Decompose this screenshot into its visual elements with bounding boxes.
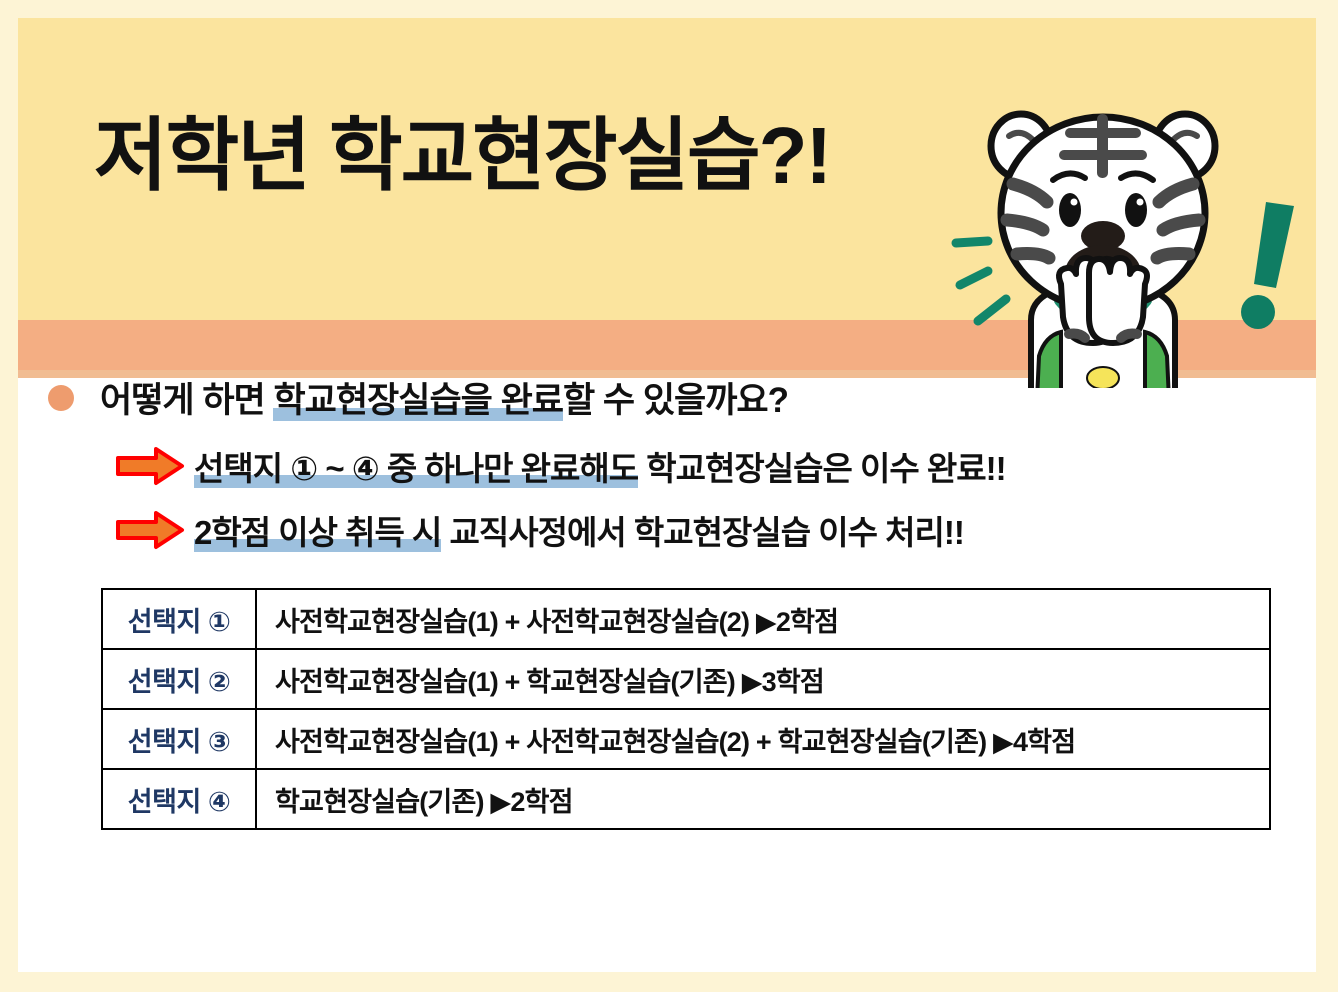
option-label: 선택지 ④ xyxy=(102,769,256,829)
note-text-1: 선택지 ① ~ ④ 중 하나만 완료해도 학교현장실습은 이수 완료!! xyxy=(194,442,1006,490)
note-row-1: 선택지 ① ~ ④ 중 하나만 완료해도 학교현장실습은 이수 완료!! xyxy=(114,442,1006,490)
slide-body: 어떻게 하면 학교현장실습을 완료할 수 있을까요? 선택지 ① ~ ④ 중 하… xyxy=(18,320,1316,900)
question-text-after: 할 수 있을까요? xyxy=(563,381,788,420)
option-description: 사전학교현장실습(1) + 학교현장실습(기존) ▶3학점 xyxy=(256,649,1270,709)
page-title: 저학년 학교현장실습?! xyxy=(94,116,830,196)
table-row: 선택지 ④ 학교현장실습(기존) ▶2학점 xyxy=(102,769,1270,829)
table-row: 선택지 ① 사전학교현장실습(1) + 사전학교현장실습(2) ▶2학점 xyxy=(102,589,1270,649)
note-2-highlight: 2학점 이상 취득 시 xyxy=(194,514,441,552)
note-text-2: 2학점 이상 취득 시 교직사정에서 학교현장실습 이수 처리!! xyxy=(194,506,964,554)
exclamation-mark-icon xyxy=(1236,196,1306,331)
right-arrow-icon xyxy=(114,509,186,551)
right-arrow-icon xyxy=(114,445,186,487)
question-text-before: 어떻게 하면 xyxy=(100,381,273,420)
slide-content: 저학년 학교현장실습?! xyxy=(18,18,1316,972)
note-row-2: 2학점 이상 취득 시 교직사정에서 학교현장실습 이수 처리!! xyxy=(114,506,964,554)
options-table: 선택지 ① 사전학교현장실습(1) + 사전학교현장실습(2) ▶2학점 선택지… xyxy=(101,588,1271,830)
option-description: 사전학교현장실습(1) + 사전학교현장실습(2) ▶2학점 xyxy=(256,589,1270,649)
option-label: 선택지 ① xyxy=(102,589,256,649)
question-bullet-row: 어떻게 하면 학교현장실습을 완료할 수 있을까요? xyxy=(48,372,788,423)
table-row: 선택지 ② 사전학교현장실습(1) + 학교현장실습(기존) ▶3학점 xyxy=(102,649,1270,709)
note-2-rest: 교직사정에서 학교현장실습 이수 처리!! xyxy=(441,514,963,551)
slide-frame: 저학년 학교현장실습?! xyxy=(0,0,1338,992)
bullet-dot-icon xyxy=(48,385,74,411)
table-row: 선택지 ③ 사전학교현장실습(1) + 사전학교현장실습(2) + 학교현장실습… xyxy=(102,709,1270,769)
slide-header: 저학년 학교현장실습?! xyxy=(18,18,1316,320)
option-label: 선택지 ③ xyxy=(102,709,256,769)
question-text-highlight: 학교현장실습을 완료 xyxy=(273,381,563,421)
note-1-highlight: 선택지 ① ~ ④ 중 하나만 완료해도 xyxy=(194,450,638,488)
note-1-rest: 학교현장실습은 이수 완료!! xyxy=(638,450,1005,487)
question-text: 어떻게 하면 학교현장실습을 완료할 수 있을까요? xyxy=(100,372,788,423)
option-label: 선택지 ② xyxy=(102,649,256,709)
option-description: 사전학교현장실습(1) + 사전학교현장실습(2) + 학교현장실습(기존) ▶… xyxy=(256,709,1270,769)
white-tiger-mascot xyxy=(973,88,1233,388)
option-description: 학교현장실습(기존) ▶2학점 xyxy=(256,769,1270,829)
